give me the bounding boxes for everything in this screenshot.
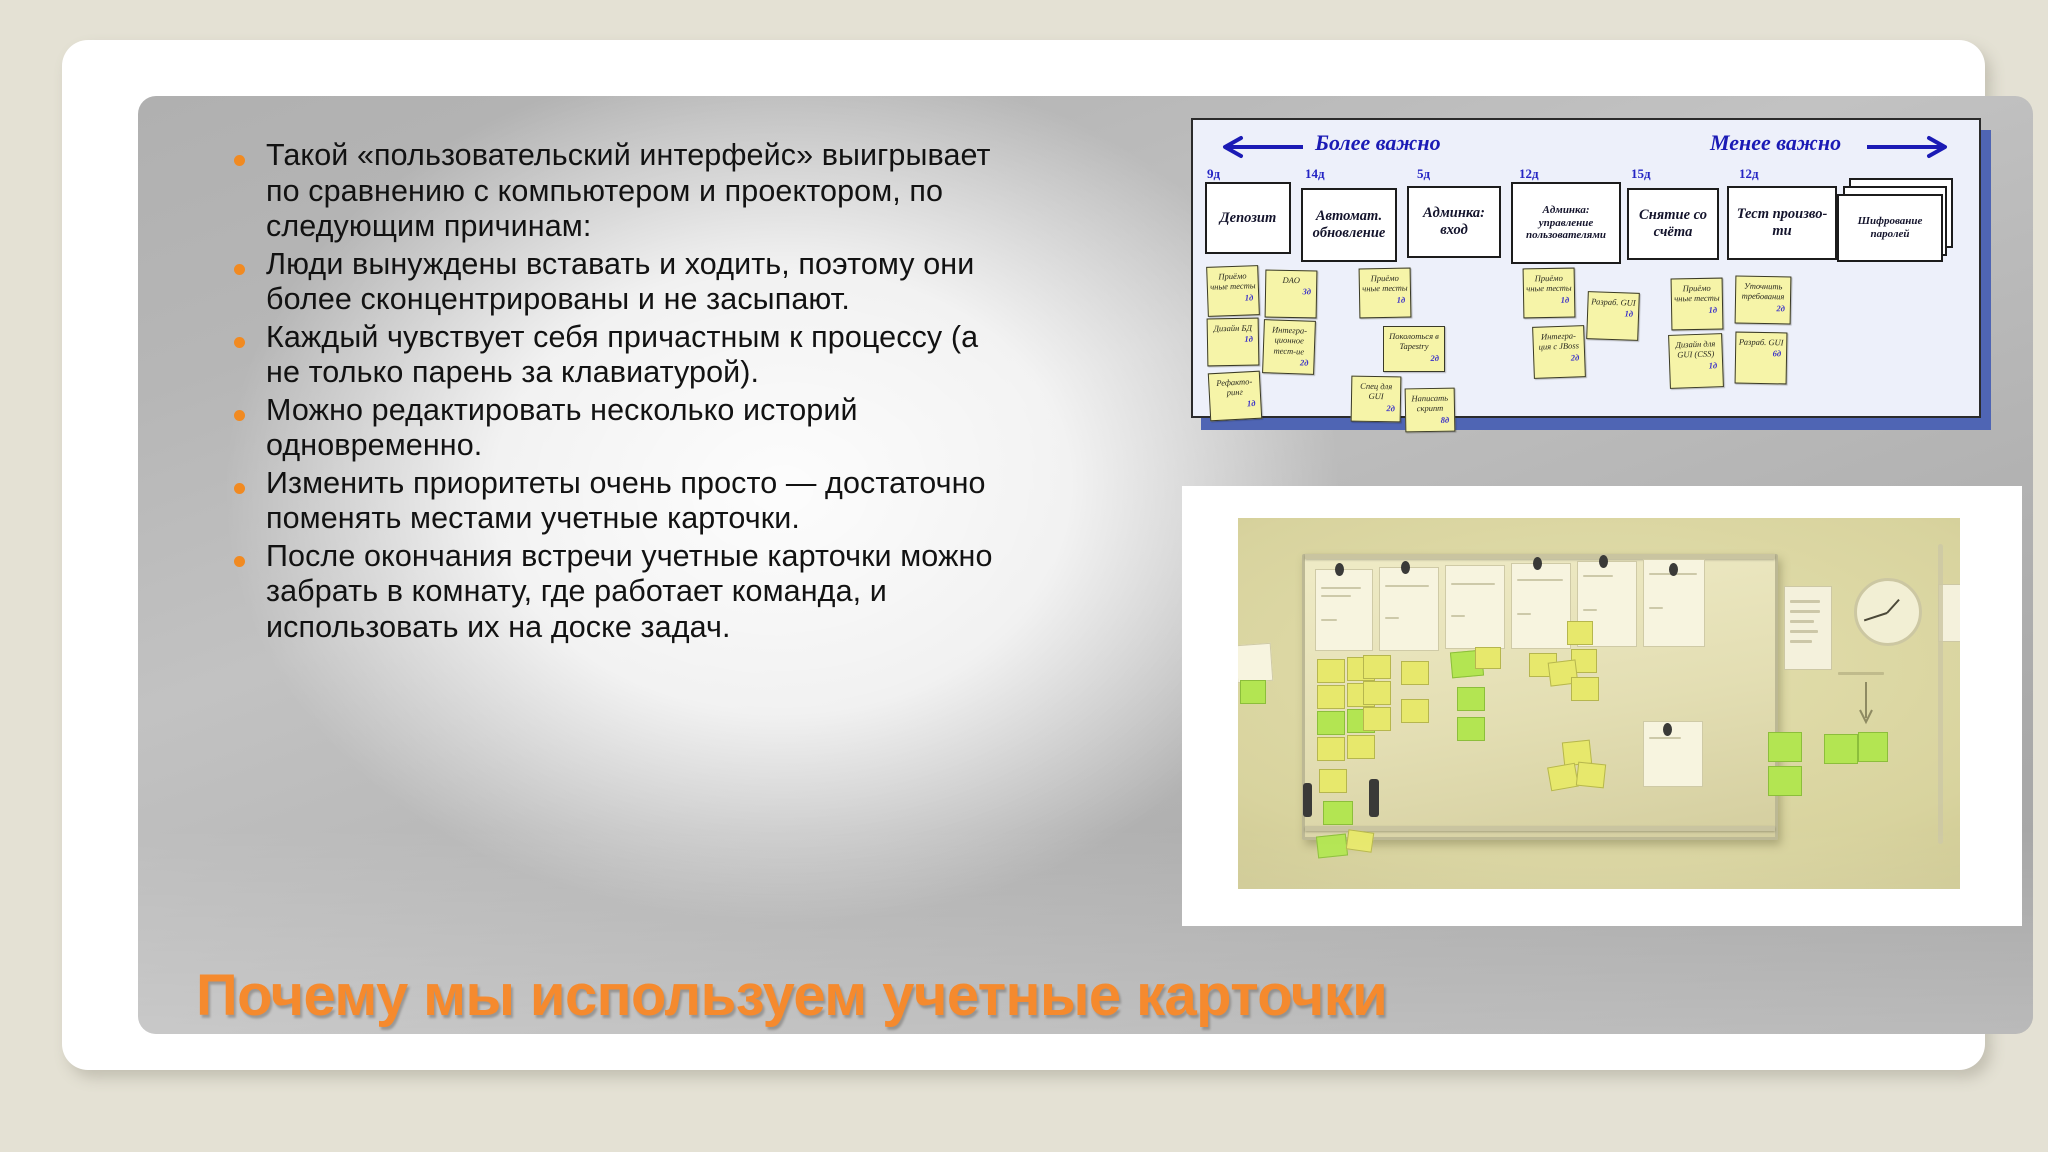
task-note-days: 1д — [1210, 292, 1256, 304]
bullet-dot-icon — [234, 483, 245, 494]
diagram-right-axis-label: Менее важно — [1710, 130, 1841, 156]
card-days-label: 15д — [1631, 166, 1651, 182]
side-paper — [1238, 643, 1273, 683]
task-note-days: 1д — [1590, 308, 1636, 320]
paper-text-line — [1385, 585, 1429, 587]
bullet-list: Такой «пользовательский интерфейс» выигр… — [234, 138, 994, 647]
task-note-days: 2д — [1354, 402, 1398, 413]
task-note-days: 2д — [1386, 353, 1442, 363]
task-note-days: 8д — [1408, 414, 1452, 425]
magnet — [1335, 563, 1344, 576]
story-card: Тест произво-ти — [1727, 186, 1837, 260]
story-card: Депозит — [1205, 182, 1291, 254]
board-header-paper — [1643, 721, 1703, 787]
photo-sticky-note — [1547, 763, 1579, 791]
task-note: Интегра- ция с JBoss 2д — [1532, 325, 1586, 379]
photo-sticky-note — [1323, 801, 1353, 825]
task-note: Разраб. GUI 1д — [1586, 291, 1640, 341]
task-note-title: Приёмо чные тесты — [1210, 271, 1256, 293]
photo-sticky-note — [1363, 655, 1391, 679]
task-note: Спец для GUI 2д — [1351, 376, 1402, 423]
photo-whiteboard — [1302, 554, 1778, 840]
task-note: Разраб. GUI 6д — [1735, 332, 1788, 385]
task-board-photo — [1238, 518, 1960, 889]
board-header-paper — [1445, 565, 1505, 649]
task-note-days: 1д — [1672, 360, 1720, 372]
bullet-dot-icon — [234, 556, 245, 567]
story-card: Снятие со счёта — [1627, 188, 1719, 260]
slide-content-panel: Такой «пользовательский интерфейс» выигр… — [138, 96, 2033, 1034]
bullet-text: Изменить приоритеты очень просто — доста… — [266, 466, 994, 537]
bullet-text: Такой «пользовательский интерфейс» выигр… — [266, 138, 994, 245]
board-header-paper — [1315, 569, 1373, 651]
bullet-text: Можно редактировать несколько историй од… — [266, 393, 994, 464]
task-note-title: DAO — [1282, 275, 1300, 285]
task-note-title: Спец для GUI — [1360, 381, 1392, 402]
photo-sticky-note — [1347, 735, 1375, 759]
task-note-days: 1д — [1674, 304, 1720, 315]
bullet-dot-icon — [234, 264, 245, 275]
task-note: Интегра- ционное тест-ие 2д — [1262, 319, 1316, 375]
task-note: DAO 3д — [1265, 270, 1318, 319]
wall-sheet-line — [1790, 610, 1820, 613]
task-note-title: Интегра- ция с JBoss — [1538, 330, 1579, 352]
photo-sticky-note — [1401, 661, 1429, 685]
photo-sticky-note — [1317, 685, 1345, 709]
story-card: Автомат. обновление — [1301, 188, 1397, 262]
photo-sticky-note — [1457, 687, 1485, 711]
down-arrow-icon — [1856, 680, 1876, 726]
board-header-paper — [1511, 563, 1571, 649]
card-days-label: 12д — [1739, 166, 1759, 182]
task-note: Уточнить требования 2д — [1735, 276, 1792, 325]
magnet — [1401, 561, 1410, 574]
whiteboard-diagram-image: Более важно Менее важно 9д 14д 5д 12д 15… — [1191, 118, 2016, 438]
photo-sticky-note — [1319, 769, 1347, 793]
slide-stage: Такой «пользовательский интерфейс» выигр… — [0, 0, 2048, 1152]
list-item: Можно редактировать несколько историй од… — [234, 393, 994, 464]
task-note: Дизайн БД 1д — [1207, 318, 1260, 367]
task-note-days: 1д — [1526, 294, 1572, 305]
task-note-title: Приёмо чные тесты — [1362, 273, 1408, 294]
task-note-title: Разраб. GUI — [1739, 337, 1784, 348]
photo-sticky-note — [1768, 766, 1802, 796]
slide-card: Такой «пользовательский интерфейс» выигр… — [62, 40, 1985, 1070]
paper-text-line — [1321, 587, 1361, 589]
task-note-days: 2д — [1536, 352, 1582, 364]
bullet-dot-icon — [234, 337, 245, 348]
photo-sticky-note — [1858, 732, 1888, 762]
photo-sticky-note — [1317, 711, 1345, 735]
bullet-dot-icon — [234, 410, 245, 421]
paper-text-line — [1583, 609, 1597, 611]
wall-sheet-line — [1790, 640, 1812, 643]
task-note: Поколоться в Tapestry 2д — [1383, 326, 1445, 372]
task-note: Написать скрипт 8д — [1405, 388, 1456, 433]
task-note-title: Приёмо чные тесты — [1674, 283, 1720, 304]
task-note-days: 1д — [1362, 294, 1408, 305]
task-note-days: 6д — [1738, 348, 1784, 359]
magnet — [1533, 557, 1542, 570]
bullet-dot-icon — [234, 155, 245, 166]
photo-sticky-note — [1475, 647, 1501, 669]
paper-text-line — [1451, 615, 1465, 617]
task-note-title: Дизайн БД — [1213, 323, 1252, 334]
left-arrow-icon — [1215, 134, 1305, 160]
photo-sticky-note — [1576, 762, 1606, 789]
whiteboard-pen-tray — [1305, 826, 1775, 831]
list-item: Такой «пользовательский интерфейс» выигр… — [234, 138, 994, 245]
whiteboard-marker — [1303, 783, 1312, 817]
photo-sticky-note — [1457, 717, 1485, 741]
task-note-days: 3д — [1268, 286, 1314, 297]
right-arrow-icon — [1865, 134, 1955, 160]
task-note: Приёмо чные тесты 1д — [1671, 278, 1724, 331]
paper-text-line — [1517, 613, 1531, 615]
task-note: Приёмо чные тесты 1д — [1523, 268, 1576, 319]
wall-sheet — [1784, 586, 1832, 670]
photo-sticky-note — [1571, 677, 1599, 701]
task-note-days: 2д — [1738, 302, 1788, 313]
paper-text-line — [1649, 737, 1681, 739]
photo-sticky-note — [1401, 699, 1429, 723]
task-note-title: Интегра- ционное тест-ие — [1272, 324, 1307, 356]
magnet — [1599, 555, 1608, 568]
wall-sheet-line — [1790, 620, 1814, 623]
wall-sheet-line — [1790, 630, 1818, 633]
task-note-title: Приёмо чные тесты — [1526, 273, 1572, 294]
board-header-paper — [1379, 567, 1439, 651]
story-card: Админка: управление пользователями — [1511, 182, 1621, 264]
wall-sheet-line — [1838, 672, 1884, 675]
wall-clock — [1854, 578, 1922, 646]
photo-sticky-note — [1317, 659, 1345, 683]
photo-sticky-note — [1346, 829, 1375, 852]
task-note-days: 1д — [1210, 334, 1256, 345]
card-days-label: 9д — [1207, 166, 1220, 182]
task-board-photo-frame — [1182, 486, 2022, 926]
whiteboard-marker — [1369, 779, 1379, 817]
story-card: Шифрование паролей — [1837, 194, 1943, 262]
photo-sticky-note — [1567, 621, 1593, 645]
bullet-text: После окончания встречи учетные карточки… — [266, 539, 994, 646]
diagram-canvas: Более важно Менее важно 9д 14д 5д 12д 15… — [1191, 118, 1981, 418]
list-item: Каждый чувствует себя причастным к проце… — [234, 320, 994, 391]
page-title: Почему мы используем учетные карточки — [196, 962, 1956, 1029]
task-note-title: Рефакто- ринг — [1216, 376, 1252, 398]
paper-text-line — [1321, 619, 1337, 621]
list-item: Изменить приоритеты очень просто — доста… — [234, 466, 994, 537]
clock-minute-hand — [1864, 612, 1887, 621]
task-note-title: Разраб. GUI — [1591, 296, 1636, 308]
photo-sticky-note — [1240, 680, 1266, 704]
card-days-label: 5д — [1417, 166, 1430, 182]
photo-sticky-note — [1363, 681, 1391, 705]
story-card: Админка: вход — [1407, 186, 1501, 258]
task-note: Приёмо чные тесты 1д — [1359, 268, 1412, 319]
list-item: Люди вынуждены вставать и ходить, поэтом… — [234, 247, 994, 318]
paper-text-line — [1451, 583, 1495, 585]
task-note-title: Поколоться в Tapestry — [1389, 331, 1439, 351]
task-note: Рефакто- ринг 1д — [1208, 371, 1262, 422]
list-item: После окончания встречи учетные карточки… — [234, 539, 994, 646]
door-frame — [1938, 544, 1943, 844]
card-days-label: 12д — [1519, 166, 1539, 182]
task-note-days: 2д — [1265, 356, 1311, 368]
task-note-title: Уточнить требования — [1742, 281, 1785, 302]
paper-text-line — [1385, 617, 1399, 619]
photo-sticky-note — [1317, 737, 1345, 761]
photo-sticky-note — [1824, 734, 1858, 764]
diagram-left-axis-label: Более важно — [1315, 130, 1441, 156]
paper-text-line — [1517, 579, 1563, 581]
photo-sticky-note — [1316, 833, 1348, 858]
paper-text-line — [1321, 595, 1351, 597]
task-note-days: 1д — [1212, 398, 1258, 411]
task-note: Дизайн для GUI (CSS) 1д — [1668, 333, 1724, 389]
paper-text-line — [1649, 607, 1663, 609]
paper-text-line — [1583, 575, 1613, 577]
task-note: Приёмо чные тесты 1д — [1206, 265, 1260, 317]
card-days-label: 14д — [1305, 166, 1325, 182]
bullet-text: Люди вынуждены вставать и ходить, поэтом… — [266, 247, 994, 318]
task-note-title: Дизайн для GUI (CSS) — [1675, 338, 1715, 360]
magnet — [1669, 563, 1678, 576]
bullet-text: Каждый чувствует себя причастным к проце… — [266, 320, 994, 391]
photo-sticky-note — [1768, 732, 1802, 762]
clock-hour-hand — [1886, 599, 1900, 614]
task-note-title: Написать скрипт — [1411, 393, 1448, 414]
wall-sheet-line — [1790, 600, 1820, 603]
photo-sticky-note — [1363, 707, 1391, 731]
magnet — [1663, 723, 1672, 736]
